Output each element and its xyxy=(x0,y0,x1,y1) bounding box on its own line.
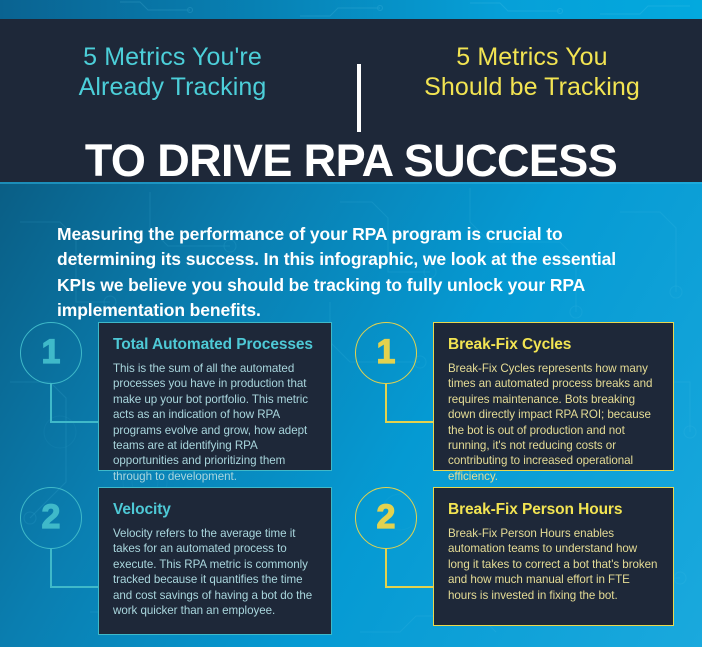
connector-horizontal xyxy=(385,421,435,423)
intro-paragraph: Measuring the performance of your RPA pr… xyxy=(57,222,657,324)
metric-card-title: Break-Fix Cycles xyxy=(448,335,659,354)
metric-card-body: Break-Fix Cycles Break-Fix Cycles repres… xyxy=(433,322,674,471)
metric-card-right-1: 1 Break-Fix Cycles Break-Fix Cycles repr… xyxy=(355,322,675,472)
kicker-right-line2: Should be Tracking xyxy=(372,72,692,102)
connector-horizontal xyxy=(50,421,100,423)
metric-card-title: Total Automated Processes xyxy=(113,335,317,354)
connector-horizontal xyxy=(385,586,435,588)
metric-card-body: Break-Fix Person Hours Break-Fix Person … xyxy=(433,487,674,626)
header-band: 5 Metrics You're Already Tracking 5 Metr… xyxy=(0,19,702,182)
metric-number-circle: 1 xyxy=(20,322,82,384)
metric-card-text: Break-Fix Person Hours enables automatio… xyxy=(448,526,659,603)
circuit-pattern-icon xyxy=(0,0,702,19)
page-title: TO DRIVE RPA SUCCESS xyxy=(0,137,702,185)
metric-number: 1 xyxy=(377,335,396,371)
header-divider xyxy=(357,64,361,132)
connector-vertical xyxy=(50,549,52,587)
metric-card-body: Velocity Velocity refers to the average … xyxy=(98,487,332,635)
metric-card-right-2: 2 Break-Fix Person Hours Break-Fix Perso… xyxy=(355,487,675,637)
kicker-right-line1: 5 Metrics You xyxy=(372,42,692,72)
metric-card-left-2: 2 Velocity Velocity refers to the averag… xyxy=(20,487,332,637)
metric-card-title: Break-Fix Person Hours xyxy=(448,500,659,519)
metric-card-body: Total Automated Processes This is the su… xyxy=(98,322,332,471)
metric-number-circle: 2 xyxy=(20,487,82,549)
metric-number-circle: 1 xyxy=(355,322,417,384)
metric-number-circle: 2 xyxy=(355,487,417,549)
metric-card-text: This is the sum of all the automated pro… xyxy=(113,361,317,484)
infographic-page: 5 Metrics You're Already Tracking 5 Metr… xyxy=(0,0,702,647)
metric-number: 2 xyxy=(42,500,61,536)
kicker-left-line2: Already Tracking xyxy=(0,72,345,102)
connector-vertical xyxy=(50,384,52,422)
metric-number: 2 xyxy=(377,500,396,536)
metric-card-title: Velocity xyxy=(113,500,317,519)
metric-card-text: Break-Fix Cycles represents how many tim… xyxy=(448,361,659,484)
kicker-left-line1: 5 Metrics You're xyxy=(0,42,345,72)
connector-vertical xyxy=(385,384,387,422)
kicker-right: 5 Metrics You Should be Tracking xyxy=(372,42,692,102)
top-accent-strip xyxy=(0,0,702,19)
kicker-left: 5 Metrics You're Already Tracking xyxy=(0,42,345,102)
connector-horizontal xyxy=(50,586,100,588)
body-area: Measuring the performance of your RPA pr… xyxy=(0,182,702,647)
metric-card-text: Velocity refers to the average time it t… xyxy=(113,526,317,618)
metric-number: 1 xyxy=(42,335,61,371)
metric-card-left-1: 1 Total Automated Processes This is the … xyxy=(20,322,332,472)
header-kicker-row: 5 Metrics You're Already Tracking 5 Metr… xyxy=(0,42,702,112)
connector-vertical xyxy=(385,549,387,587)
